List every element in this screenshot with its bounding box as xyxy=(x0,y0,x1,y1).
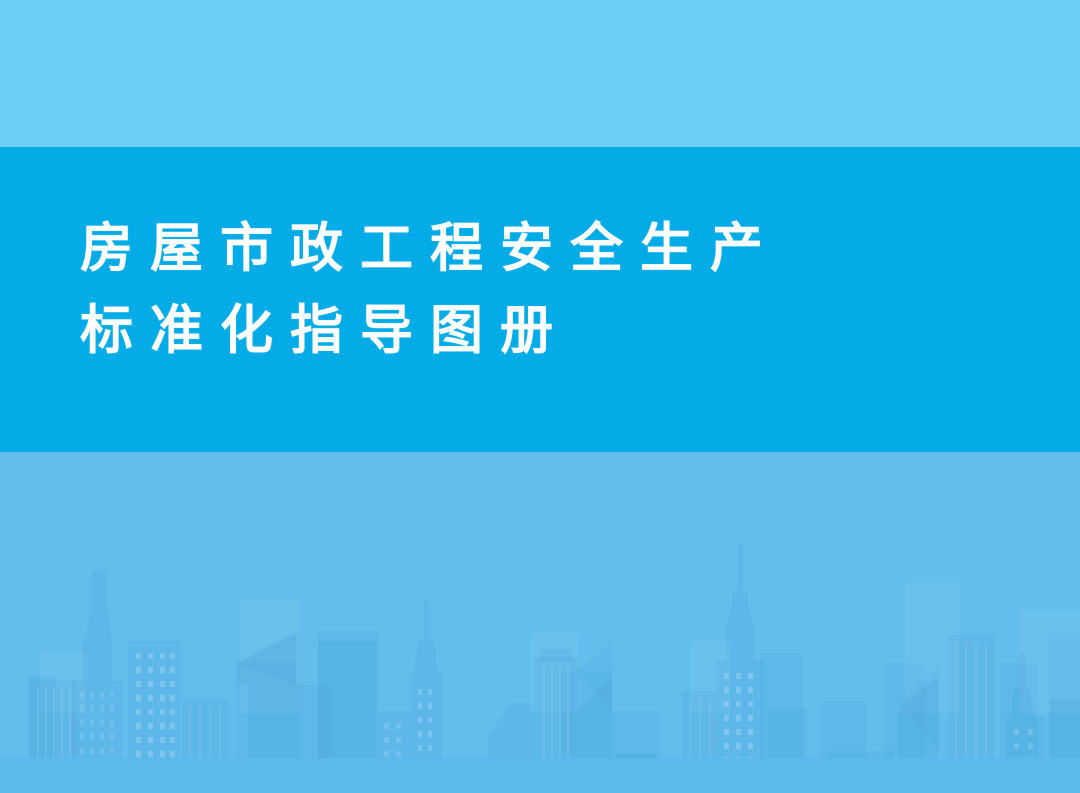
top-sky-band xyxy=(0,0,1080,147)
page-title-line-2: 标准化指导图册 xyxy=(80,290,780,372)
page-title-line-1: 房屋市政工程安全生产 xyxy=(80,208,780,290)
page-title: 房屋市政工程安全生产 标准化指导图册 xyxy=(80,208,780,372)
skyline-band xyxy=(0,452,1080,793)
cover-slide: 房屋市政工程安全生产 标准化指导图册 xyxy=(0,0,1080,793)
